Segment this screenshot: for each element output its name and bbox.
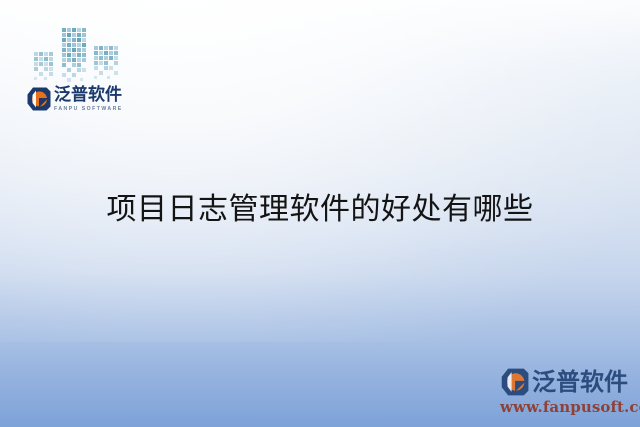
watermark-logo-row: 泛普软件 xyxy=(500,367,636,397)
fanpu-logo-icon xyxy=(500,368,529,396)
page-title: 项目日志管理软件的好处有哪些 xyxy=(0,189,640,231)
brand-block: 泛普软件 FANPU SOFTWARE xyxy=(26,24,144,122)
slide-canvas: 泛普软件 FANPU SOFTWARE 项目日志管理软件的好处有哪些 泛普软件 … xyxy=(0,0,640,427)
watermark-url: www.fanpusoft.com xyxy=(500,398,636,416)
watermark: 泛普软件 www.fanpusoft.com xyxy=(500,367,636,417)
watermark-name-cn: 泛普软件 xyxy=(532,368,628,396)
brand-text: 泛普软件 FANPU SOFTWARE xyxy=(54,86,123,113)
brand-name-cn: 泛普软件 xyxy=(54,86,123,104)
brand-name-en: FANPU SOFTWARE xyxy=(54,105,123,113)
fanpu-logo-icon xyxy=(26,87,51,111)
pixel-city-skyline-icon xyxy=(32,24,124,86)
brand-wordmark: 泛普软件 FANPU SOFTWARE xyxy=(26,86,144,120)
